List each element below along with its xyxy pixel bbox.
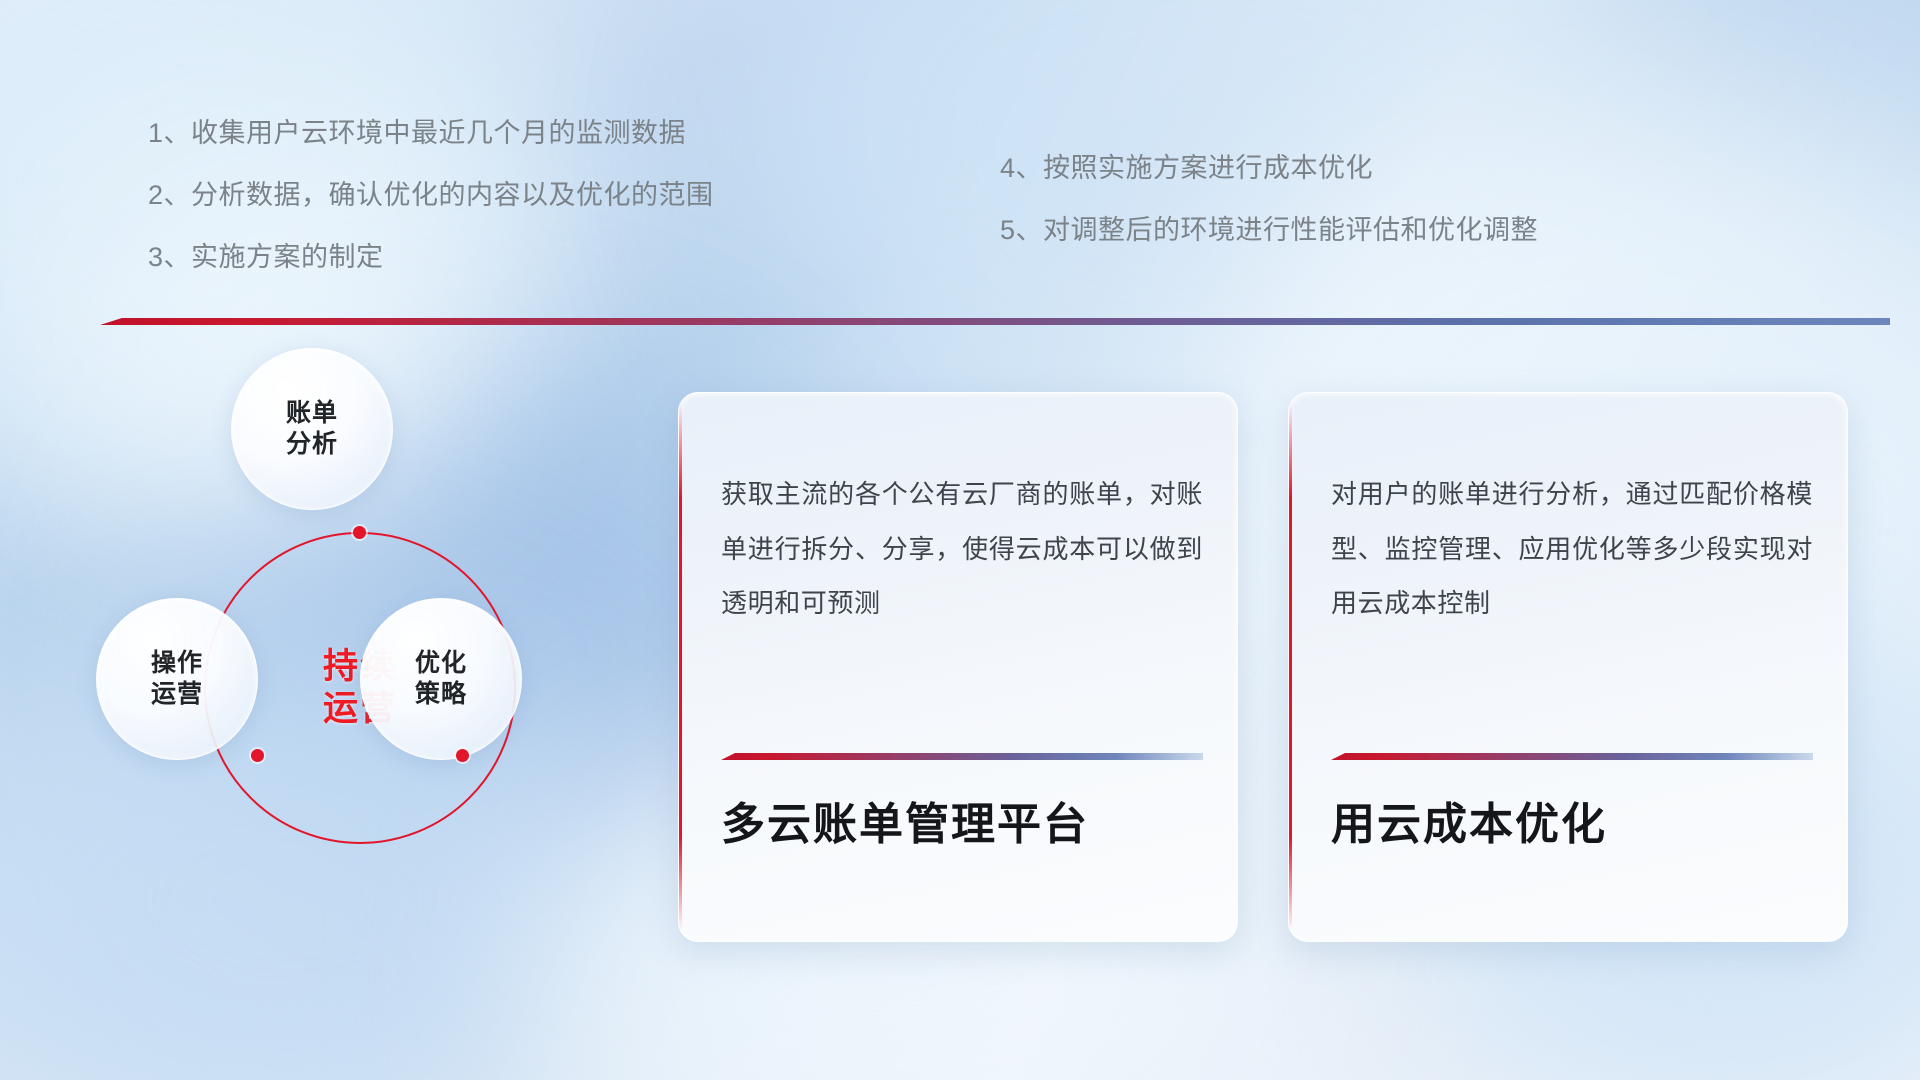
- section-divider-rule: [100, 318, 1890, 325]
- card-body-text: 对用户的账单进行分析，通过匹配价格模型、监控管理、应用优化等多少段实现对用云成本…: [1331, 467, 1813, 631]
- continuous-operation-diagram: 持续 运营 账单 分析 操作 运营 优化 策略: [96, 360, 616, 920]
- steps-right-column: 4、按照实施方案进行成本优化 5、对调整后的环境进行性能评估和优化调整: [1000, 155, 1538, 244]
- feature-card-cost-optimization[interactable]: 对用户的账单进行分析，通过匹配价格模型、监控管理、应用优化等多少段实现对用云成本…: [1288, 392, 1848, 942]
- diagram-node-bill-analysis[interactable]: 账单 分析: [231, 348, 393, 510]
- node-label-line-1: 账单: [286, 398, 338, 429]
- step-item: 2、分析数据，确认优化的内容以及优化的范围: [148, 182, 714, 209]
- node-label-line-2: 策略: [415, 679, 467, 710]
- diagram-node-optimization-strategy[interactable]: 优化 策略: [360, 598, 522, 760]
- card-title: 多云账单管理平台: [721, 799, 1203, 852]
- node-label-line-1: 优化: [415, 648, 467, 679]
- node-label-line-1: 操作: [151, 648, 203, 679]
- card-body-text: 获取主流的各个公有云厂商的账单，对账单进行拆分、分享，使得云成本可以做到透明和可…: [721, 467, 1203, 631]
- card-divider-rule: [1331, 753, 1813, 760]
- card-title: 用云成本优化: [1331, 799, 1813, 852]
- diagram-node-dot-top: [353, 526, 366, 539]
- diagram-node-dot-left: [251, 749, 264, 762]
- step-item: 1、收集用户云环境中最近几个月的监测数据: [148, 120, 714, 147]
- diagram-node-operations[interactable]: 操作 运营: [96, 598, 258, 760]
- diagram-node-dot-right: [456, 749, 469, 762]
- step-item: 3、实施方案的制定: [148, 244, 714, 271]
- card-divider-rule: [721, 753, 1203, 760]
- step-item: 5、对调整后的环境进行性能评估和优化调整: [1000, 217, 1538, 244]
- feature-card-multicloud-billing[interactable]: 获取主流的各个公有云厂商的账单，对账单进行拆分、分享，使得云成本可以做到透明和可…: [678, 392, 1238, 942]
- node-label-line-2: 运营: [151, 679, 203, 710]
- step-item: 4、按照实施方案进行成本优化: [1000, 155, 1538, 182]
- steps-left-column: 1、收集用户云环境中最近几个月的监测数据 2、分析数据，确认优化的内容以及优化的…: [148, 120, 714, 271]
- node-label-line-2: 分析: [286, 429, 338, 460]
